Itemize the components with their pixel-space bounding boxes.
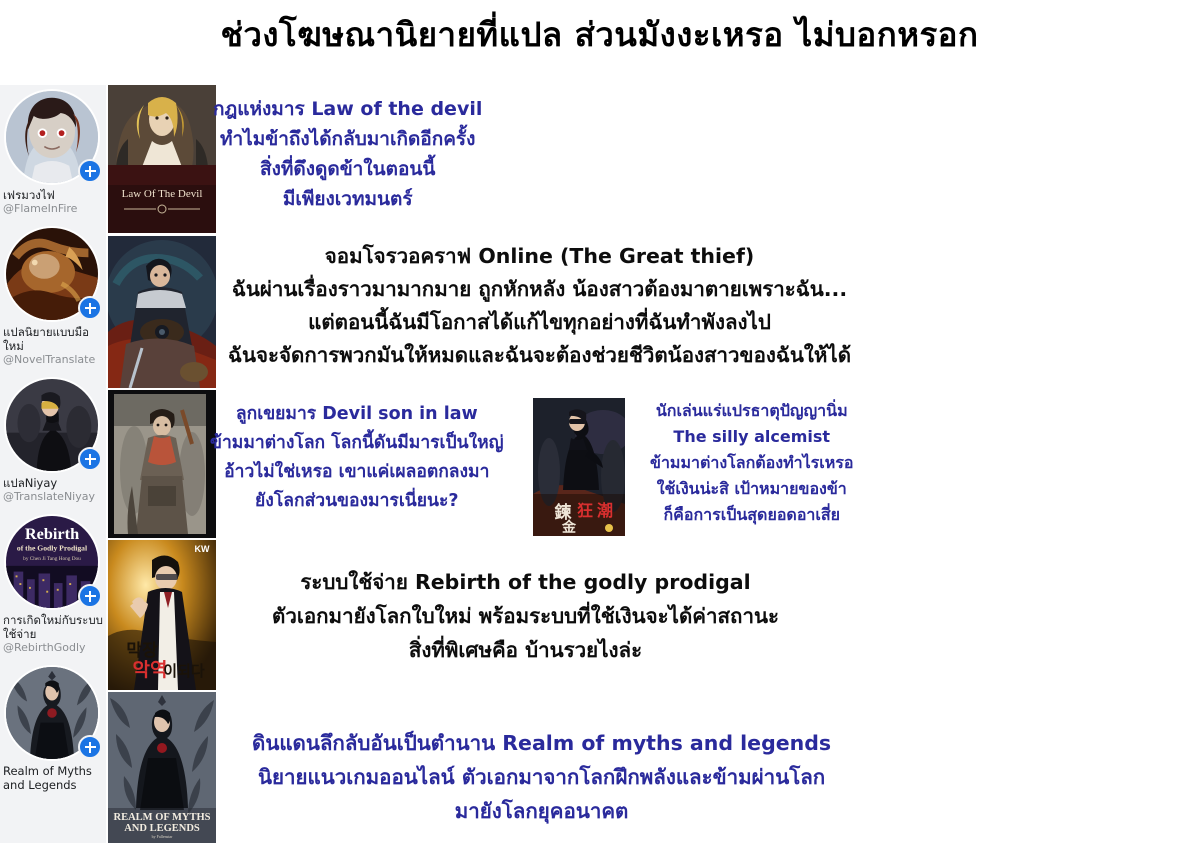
svg-text:악역: 악역 [133, 659, 168, 681]
avatar-wrap[interactable]: Rebirth of the Godly Prodigal by Chen Ji… [4, 514, 100, 610]
avatar-wrap[interactable] [4, 377, 100, 473]
promo-line: มายังโลกยุคอนาคต [252, 794, 831, 828]
profile-name: แปลNiyay [0, 475, 106, 490]
svg-text:潮: 潮 [597, 501, 613, 520]
promo-text-law-of-the-devil: กฎแห่งมาร Law of the devil ทำไมข้าถึงได้… [213, 94, 482, 214]
promo-line: The silly alcemist [650, 424, 853, 450]
promo-line: ระบบใช้จ่าย Rebirth of the godly prodiga… [272, 565, 779, 599]
promo-line: จอมโจรวอคราฟ Online (The Great thief) [228, 240, 851, 273]
svg-text:Rebirth: Rebirth [25, 524, 79, 543]
svg-text:REALM OF MYTHS: REALM OF MYTHS [113, 812, 210, 823]
svg-text:이되다: 이되다 [163, 662, 205, 680]
promo-line: ยังโลกส่วนของมารเนี่ยนะ? [210, 487, 504, 516]
promo-line: นักเล่นแร่แปรธาตุปัญญานิ่ม [650, 398, 853, 424]
promo-text-devil-son-in-law: ลูกเขยมาร Devil son in law ข้ามมาต่างโลก… [210, 400, 504, 516]
avatar-wrap[interactable] [4, 89, 100, 185]
promo-text-godly-prodigal: ระบบใช้จ่าย Rebirth of the godly prodiga… [272, 565, 779, 667]
profile-handle: @NovelTranslate [0, 353, 106, 373]
avatar-wrap[interactable] [4, 226, 100, 322]
promo-line: ข้ามมาต่างโลก โลกนี้ดันมีมารเป็นใหญ่ [210, 429, 504, 458]
cover-law-of-the-devil[interactable]: Law Of The Devil [108, 85, 216, 233]
promo-line: ก็คือการเป็นสุดยอดอาเสี่ย [650, 502, 853, 528]
promo-line: นิยายแนวเกมออนไลน์ ตัวเอกมาจากโลกฝึกพลัง… [252, 760, 831, 794]
promo-line: สิ่งที่ดึงดูดข้าในตอนนี้ [213, 154, 482, 184]
profile-card[interactable]: แปลNiyay @TranslateNiyay [0, 377, 106, 510]
plus-badge[interactable] [78, 584, 102, 608]
svg-text:Law Of The Devil: Law Of The Devil [122, 188, 203, 200]
profile-card[interactable]: เฟรมวงไฟ @FlameInFire [0, 89, 106, 222]
svg-text:AND LEGENDS: AND LEGENDS [124, 823, 200, 834]
svg-text:狂: 狂 [577, 501, 593, 520]
promo-line: ข้ามมาต่างโลกต้องทำไรเหรอ [650, 450, 853, 476]
promo-line: อ้าวไม่ใช่เหรอ เขาแค่เผลอตกลงมา [210, 458, 504, 487]
profile-handle [0, 792, 106, 798]
promo-line: มีเพียงเวทมนตร์ [213, 184, 482, 214]
profile-card[interactable]: Realm of Myths and Legends [0, 665, 106, 798]
avatar-wrap[interactable] [4, 665, 100, 761]
promo-line: แต่ตอนนี้ฉันมีโอกาสได้แก้ไขทุกอย่างที่ฉั… [228, 306, 851, 339]
svg-text:by Fallenstar: by Fallenstar [152, 834, 173, 839]
cover-alchemy-frenzy[interactable]: 鍊 狂 潮 金 [533, 398, 625, 536]
profile-handle: @TranslateNiyay [0, 490, 106, 510]
profile-name: การเกิดใหม่กับระบบใช้จ่าย [0, 612, 106, 641]
svg-text:by Chen Ji Tang Hong Dou: by Chen Ji Tang Hong Dou [23, 556, 81, 562]
profile-rail: เฟรมวงไฟ @FlameInFire แปลนิยายแบบม [0, 85, 106, 843]
svg-text:金: 金 [561, 519, 577, 536]
profile-card[interactable]: Rebirth of the Godly Prodigal by Chen Ji… [0, 514, 106, 661]
profile-name: แปลนิยายแบบมือใหม่ [0, 324, 106, 353]
plus-badge[interactable] [78, 296, 102, 320]
promo-text-great-thief: จอมโจรวอคราฟ Online (The Great thief) ฉั… [228, 240, 851, 372]
plus-badge[interactable] [78, 735, 102, 759]
svg-text:막장: 막장 [126, 641, 158, 661]
cover-realm-of-myths-and-legends[interactable]: REALM OF MYTHS AND LEGENDS by Fallenstar [108, 692, 216, 843]
cover-devil-son-in-law[interactable] [108, 390, 216, 538]
promo-line: สิ่งที่พิเศษคือ บ้านรวยไงล่ะ [272, 633, 779, 667]
promo-line: ฉันผ่านเรื่องราวมามากมาย ถูกหักหลัง น้อง… [228, 273, 851, 306]
promo-line: ลูกเขยมาร Devil son in law [210, 400, 504, 429]
plus-badge[interactable] [78, 447, 102, 471]
promo-text-realm-of-myths: ดินแดนลึกลับอันเป็นตำนาน Realm of myths … [252, 726, 831, 828]
promo-line: ใช้เงินน่ะสิ เป้าหมายของข้า [650, 476, 853, 502]
promo-line: ตัวเอกมายังโลกใบใหม่ พร้อมระบบที่ใช้เงิน… [272, 599, 779, 633]
cover-godly-prodigal-manhwa[interactable]: 막장 악역 이되다 KW [108, 540, 216, 690]
promo-line: ดินแดนลึกลับอันเป็นตำนาน Realm of myths … [252, 726, 831, 760]
cover-great-thief-online[interactable] [108, 236, 216, 388]
profile-name: เฟรมวงไฟ [0, 187, 106, 202]
cover-column: Law Of The Devil [108, 85, 218, 843]
profile-card[interactable]: แปลนิยายแบบมือใหม่ @NovelTranslate [0, 226, 106, 373]
svg-text:KW: KW [195, 544, 210, 554]
promo-line: กฎแห่งมาร Law of the devil [213, 94, 482, 124]
promo-line: ฉันจะจัดการพวกมันให้หมดและฉันจะต้องช่วยช… [228, 339, 851, 372]
profile-name: Realm of Myths and Legends [0, 763, 106, 792]
plus-badge[interactable] [78, 159, 102, 183]
promo-line: ทำไมข้าถึงได้กลับมาเกิดอีกครั้ง [213, 124, 482, 154]
profile-handle: @FlameInFire [0, 202, 106, 222]
promo-text-silly-alchemist: นักเล่นแร่แปรธาตุปัญญานิ่ม The silly alc… [650, 398, 853, 528]
page-title: ช่วงโฆษณานิยายที่แปล ส่วนมังงะเหรอ ไม่บอ… [0, 8, 1199, 61]
svg-text:of the Godly Prodigal: of the Godly Prodigal [17, 544, 87, 553]
profile-handle: @RebirthGodly [0, 641, 106, 661]
